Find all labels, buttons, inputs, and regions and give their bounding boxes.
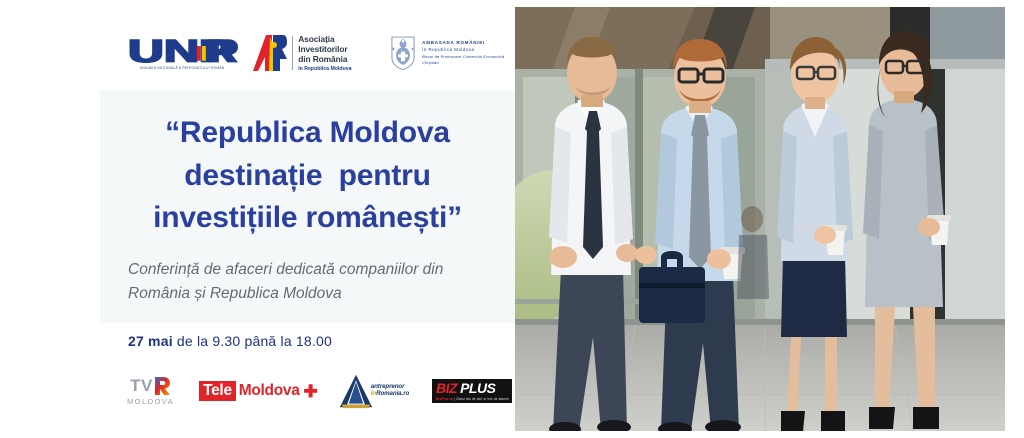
top-logo-row: UNIUNEA NAȚIONALĂ A PATRONATULUI ROMÂN A… <box>125 24 515 82</box>
partner-logo-row: TV MOLDOVA <box>122 368 512 414</box>
tele-moldova-logo: Tele Moldova ✚ <box>199 380 318 402</box>
event-date: 27 mai <box>128 333 173 349</box>
tele-box-text: Tele <box>199 381 236 401</box>
plus-word: PLUS <box>460 381 495 395</box>
poster-title: “Republica Moldova destinație pentru inv… <box>100 112 515 240</box>
tvr-moldova-logo: TV MOLDOVA <box>122 376 179 406</box>
event-dateline: 27 mai de la 9.30 până la 18.00 <box>128 333 332 349</box>
air-divider <box>292 36 293 70</box>
air-logo: Asociația Investitorilor din România în … <box>253 33 375 73</box>
briefcase <box>639 267 705 323</box>
biz-word: BIZ <box>436 381 457 395</box>
antreprenor-text: antreprenor înRomania.ro <box>371 384 409 398</box>
embassy-line-3: Biroul de Promovare Comercial Economică <box>422 54 504 60</box>
subtitle-line-1: Conferință de afaceri dedicată companiil… <box>128 258 508 282</box>
antreprenor-in-romania-logo: antreprenor înRomania.ro <box>338 373 412 409</box>
embassy-line-4: Chișinău <box>422 60 504 66</box>
embassy-logo: AMBASADA ROMÂNIEI în Republica Moldova B… <box>389 35 515 71</box>
poster-root: UNIUNEA NAȚIONALĂ A PATRONATULUI ROMÂN A… <box>0 0 1024 438</box>
antreprenor-mountain-a-icon <box>338 373 374 409</box>
left-content-panel: UNIUNEA NAȚIONALĂ A PATRONATULUI ROMÂN A… <box>0 0 515 438</box>
unpr-mark-icon <box>125 37 238 63</box>
air-line-3: din România <box>298 54 351 64</box>
embassy-line-2: în Republica Moldova <box>422 47 504 54</box>
air-text: Asociația Investitorilor din România în … <box>298 34 351 72</box>
air-mark-icon <box>253 33 287 73</box>
antreprenor-domain: Romania.ro <box>376 390 409 397</box>
tvr-r-icon <box>154 376 171 395</box>
unpr-logo: UNIUNEA NAȚIONALĂ A PATRONATULUI ROMÂN <box>125 37 239 69</box>
tele-moldova-text: Moldova <box>236 381 303 401</box>
title-line-3: investițiile românești” <box>100 197 515 240</box>
air-line-1: Asociația <box>298 34 351 44</box>
photo-illustration <box>515 7 1005 431</box>
tvr-moldova-text: MOLDOVA <box>122 397 179 406</box>
title-line-2: destinație pentru <box>100 155 515 198</box>
event-hours: de la 9.30 până la 18.00 <box>173 333 332 349</box>
biz-plus-domain: BizPlus.ro <box>436 397 453 401</box>
tvr-mark: TV <box>122 376 179 395</box>
title-line-1: “Republica Moldova <box>100 112 515 155</box>
embassy-line-1: AMBASADA ROMÂNIEI <box>422 40 504 47</box>
poster-subtitle: Conferință de afaceri dedicată companiil… <box>128 258 508 306</box>
subtitle-line-2: România și Republica Moldova <box>128 282 508 306</box>
antreprenor-line-2: înRomania.ro <box>371 391 409 398</box>
biz-plus-tagline-rest: | Ziarul tău de știri și info de afaceri <box>453 397 509 401</box>
embassy-text: AMBASADA ROMÂNIEI în Republica Moldova B… <box>422 40 504 65</box>
biz-plus-tagline: BizPlus.ro | Ziarul tău de știri și info… <box>432 397 512 403</box>
tvr-tv-text: TV <box>130 377 153 394</box>
biz-plus-bar: BIZ PLUS <box>432 379 512 397</box>
air-sub: în Republica Moldova <box>298 66 351 72</box>
romania-coat-of-arms-icon <box>389 35 417 71</box>
air-line-2: Investitorilor <box>298 44 351 54</box>
tele-plus-icon: ✚ <box>304 383 318 400</box>
unpr-caption: UNIUNEA NAȚIONALĂ A PATRONATULUI ROMÂN <box>125 65 239 70</box>
conference-photo <box>515 7 1005 431</box>
biz-plus-logo: BIZ PLUS BizPlus.ro | Ziarul tău de știr… <box>432 379 512 403</box>
